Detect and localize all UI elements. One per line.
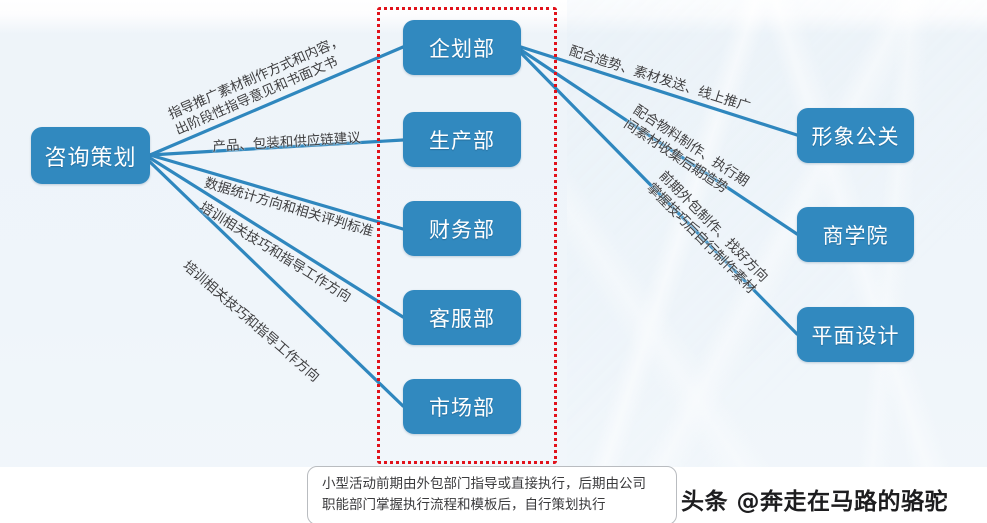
node-output-shangxueyuan-label: 商学院 [823,220,889,250]
watermark: 头条 @奔走在马路的骆驼 [681,482,948,516]
callout-note: 小型活动前期由外包部门指导或直接执行，后期由公司 职能部门掌握执行流程和模板后，… [307,466,677,523]
node-department-shengchan[interactable]: 生产部 [403,112,521,167]
node-department-kefu-label: 客服部 [429,303,495,333]
node-root-label: 咨询策划 [44,140,136,172]
node-output-xingxiang-gongguan[interactable]: 形象公关 [797,108,914,163]
node-department-qihua-label: 企划部 [429,33,495,63]
node-output-xingxiang-gongguan-label: 形象公关 [812,121,900,151]
node-department-caiwu[interactable]: 财务部 [403,201,521,256]
diagram-canvas: 咨询策划 企划部 生产部 财务部 客服部 市场部 形象公关 商学院 平面设计 指… [0,0,987,523]
node-output-pingmian-sheji-label: 平面设计 [812,320,900,350]
node-output-pingmian-sheji[interactable]: 平面设计 [797,307,914,362]
wire-root-to-caiwu [150,155,403,229]
node-department-shichang[interactable]: 市场部 [403,379,521,434]
node-department-shichang-label: 市场部 [429,392,495,422]
node-department-qihua[interactable]: 企划部 [403,20,521,75]
node-output-shangxueyuan[interactable]: 商学院 [797,207,914,262]
node-root[interactable]: 咨询策划 [31,127,150,184]
node-department-caiwu-label: 财务部 [429,214,495,244]
node-department-shengchan-label: 生产部 [429,125,495,155]
node-department-kefu[interactable]: 客服部 [403,290,521,345]
